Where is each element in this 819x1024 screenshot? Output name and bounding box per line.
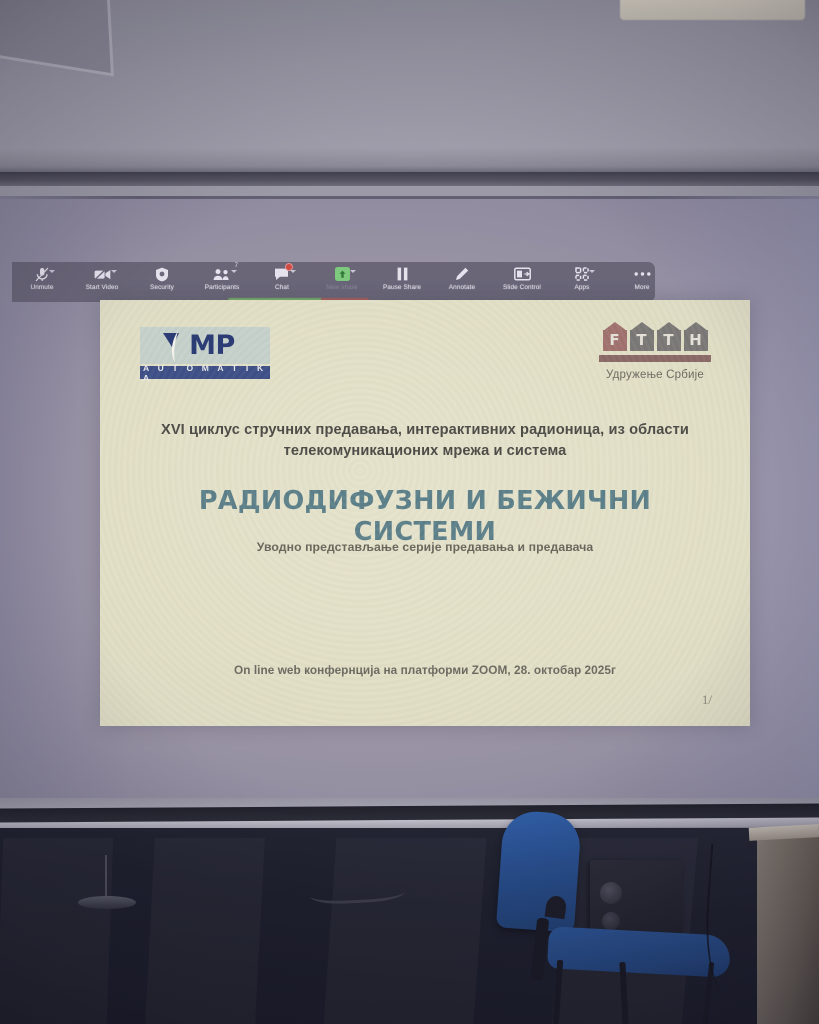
slide-main-title: РАДИОДИФУЗНИ И БЕЖИЧНИ СИСТЕМИ bbox=[160, 486, 690, 548]
chat-bubble-icon[interactable] bbox=[274, 266, 290, 282]
chevron-down-icon[interactable] bbox=[49, 270, 55, 273]
vmp-swoosh-icon bbox=[162, 330, 196, 363]
slide-page-number: 1/ bbox=[702, 692, 712, 708]
video-camera-off-icon[interactable] bbox=[94, 266, 111, 282]
ftth-caption: Удружење Србије bbox=[595, 369, 715, 381]
slide-subtitle: Уводно представљање серије предавања и п… bbox=[160, 540, 690, 554]
share-screen-icon[interactable] bbox=[335, 266, 350, 282]
toolbar-item-unmute[interactable]: Unmute bbox=[12, 264, 72, 292]
ftth-house-letters: FTTH bbox=[595, 322, 715, 352]
toolbar-item-more[interactable]: More bbox=[612, 264, 672, 292]
automatika-bar: A U T O M A T I K A bbox=[140, 366, 270, 379]
shared-presentation-slide[interactable]: MP A U T O M A T I K A FTTH Удружење Срб… bbox=[100, 300, 750, 726]
ftth-house-f-0: F bbox=[603, 322, 627, 352]
microphone-muted-icon[interactable] bbox=[35, 266, 49, 282]
vmp-logo-box: MP bbox=[140, 327, 270, 364]
shield-icon[interactable] bbox=[155, 266, 169, 282]
toolbar-item-label: Slide Control bbox=[503, 284, 541, 292]
room-photo-scene: UnmuteStart VideoSecurity7ParticipantsCh… bbox=[0, 0, 819, 1024]
vmp-automatika-logo: MP A U T O M A T I K A bbox=[140, 327, 275, 379]
ftth-letter: T bbox=[636, 333, 646, 348]
toolbar-item-label: New share bbox=[326, 284, 357, 292]
ftth-letter: H bbox=[689, 333, 702, 348]
ftth-house-t-1: T bbox=[630, 322, 654, 352]
chevron-down-icon[interactable] bbox=[111, 270, 117, 273]
toolbar-item-label: More bbox=[635, 284, 650, 292]
speaker-driver-upper bbox=[600, 882, 622, 904]
ftth-letter: F bbox=[609, 333, 619, 348]
speaker-driver-lower bbox=[602, 912, 620, 930]
toolbar-item-label: Chat bbox=[275, 284, 289, 292]
chevron-down-icon[interactable] bbox=[350, 270, 356, 273]
ftth-letter: T bbox=[663, 333, 673, 348]
ceiling bbox=[0, 0, 819, 150]
toolbar-item-slide-control[interactable]: Slide Control bbox=[492, 264, 552, 292]
people-icon[interactable]: 7 bbox=[213, 266, 231, 282]
toolbar-item-label: Start Video bbox=[86, 284, 119, 292]
toolbar-item-label: Apps bbox=[575, 284, 590, 292]
apps-icon[interactable] bbox=[575, 266, 589, 282]
chevron-down-icon[interactable] bbox=[290, 270, 296, 273]
toolbar-item-label: Security bbox=[150, 284, 174, 292]
house-body-shape: H bbox=[684, 330, 708, 351]
toolbar-item-participants[interactable]: 7Participants bbox=[192, 264, 252, 292]
chair-backrest bbox=[496, 809, 582, 932]
toolbar-item-chat[interactable]: Chat bbox=[252, 264, 312, 292]
toolbar-item-label: Participants bbox=[205, 284, 240, 292]
house-body-shape: F bbox=[603, 330, 627, 351]
ceiling-panel bbox=[0, 0, 114, 76]
toolbar-item-label: Unmute bbox=[31, 284, 54, 292]
toolbar-item-start-video[interactable]: Start Video bbox=[72, 264, 132, 292]
zoom-meeting-toolbar[interactable]: UnmuteStart VideoSecurity7ParticipantsCh… bbox=[12, 262, 655, 302]
toolbar-item-label: Pause Share bbox=[383, 284, 421, 292]
ftth-logo: FTTH Удружење Србије bbox=[595, 322, 715, 381]
side-desk bbox=[757, 830, 819, 1024]
slide-footer-text: On line web конфернција на платформи ZOO… bbox=[160, 663, 690, 677]
ellipsis-icon[interactable] bbox=[634, 266, 651, 282]
ftth-house-h-3: H bbox=[684, 322, 708, 352]
ceiling-light bbox=[620, 0, 805, 20]
room-wall-panel bbox=[323, 838, 486, 1024]
toolbar-item-security[interactable]: Security bbox=[132, 264, 192, 292]
ftth-underline bbox=[599, 355, 711, 362]
wall-trim-dark bbox=[0, 172, 819, 186]
pencil-icon[interactable] bbox=[455, 266, 469, 282]
slide-lead-text: XVI циклус стручних предавања, интеракти… bbox=[142, 420, 708, 462]
toolbar-item-apps[interactable]: Apps bbox=[552, 264, 612, 292]
room-wall-panel bbox=[145, 838, 265, 1024]
chevron-down-icon[interactable] bbox=[231, 270, 237, 273]
room-wall-panel bbox=[0, 838, 113, 1024]
microphone-stand-base bbox=[78, 896, 136, 909]
toolbar-item-label: Annotate bbox=[449, 284, 475, 292]
participants-count-badge: 7 bbox=[235, 263, 238, 269]
vmp-wordmark: MP bbox=[189, 330, 235, 361]
chevron-down-icon[interactable] bbox=[589, 270, 595, 273]
house-body-shape: T bbox=[630, 330, 654, 351]
house-body-shape: T bbox=[657, 330, 681, 351]
toolbar-item-new-share[interactable]: New share bbox=[312, 264, 372, 292]
share-screen-green-box[interactable] bbox=[335, 267, 350, 281]
slide-control-icon[interactable] bbox=[514, 266, 531, 282]
pause-icon[interactable] bbox=[396, 266, 409, 282]
ftth-house-t-2: T bbox=[657, 322, 681, 352]
automatika-label: A U T O M A T I K A bbox=[143, 363, 270, 383]
toolbar-item-annotate[interactable]: Annotate bbox=[432, 264, 492, 292]
toolbar-item-pause-share[interactable]: Pause Share bbox=[372, 264, 432, 292]
